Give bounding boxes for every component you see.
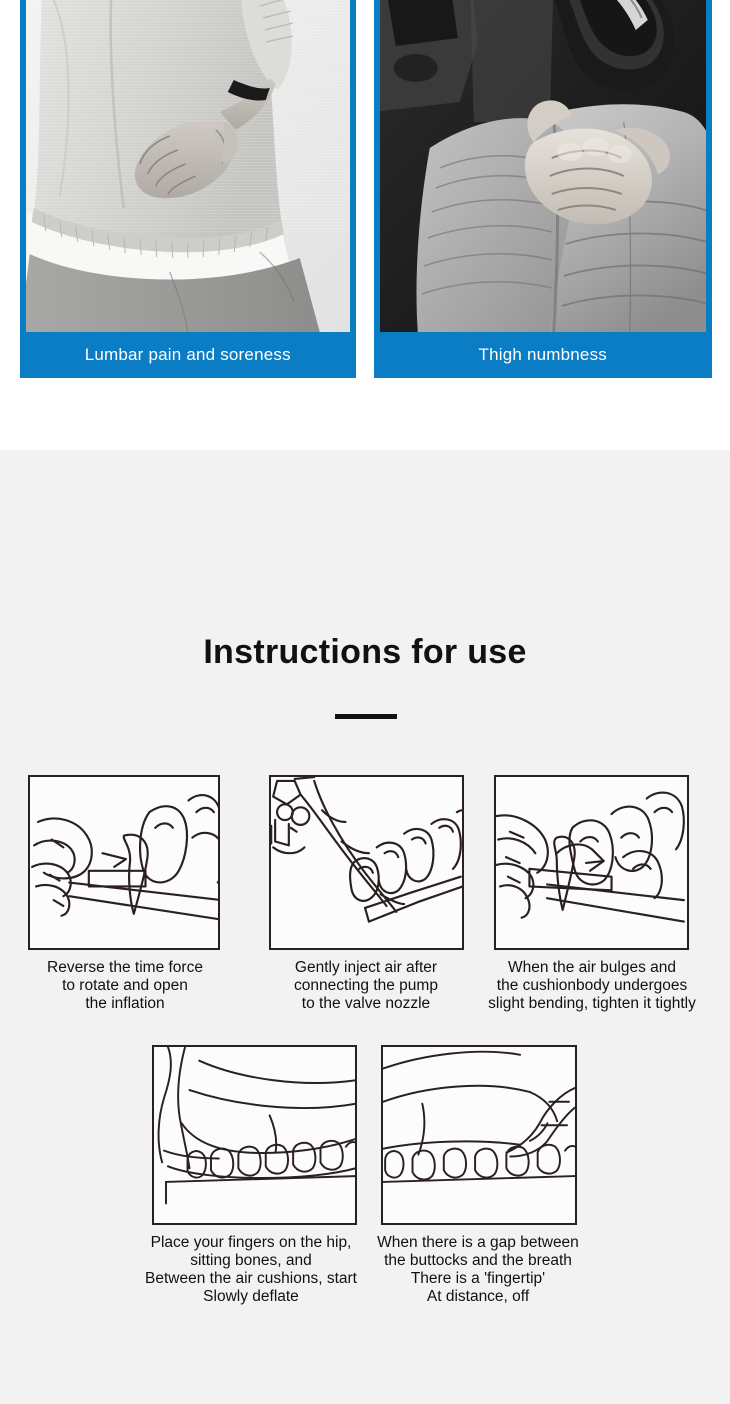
- instructions-section: Instructions for use: [0, 450, 730, 1404]
- thigh-numbness-photo: [380, 0, 707, 332]
- step-5-illustration: [381, 1045, 577, 1225]
- symptom-cards-row: Lumbar pain and soreness: [20, 0, 712, 378]
- symptom-card-label: Thigh numbness: [380, 332, 707, 378]
- lumbar-pain-photo: [26, 0, 350, 332]
- instruction-step-3: When the air bulges and the cushionbody …: [464, 775, 720, 1013]
- step-3-illustration: [494, 775, 689, 950]
- instruction-step-2: Gently inject air after connecting the p…: [252, 775, 480, 1013]
- instruction-step-1: Reverse the time force to rotate and ope…: [14, 775, 236, 1013]
- symptom-card-thigh-numbness[interactable]: Thigh numbness: [374, 0, 713, 378]
- step-3-caption: When the air bulges and the cushionbody …: [464, 959, 720, 1013]
- step-1-caption: Reverse the time force to rotate and ope…: [14, 959, 236, 1013]
- step-4-illustration: [152, 1045, 357, 1225]
- symptom-card-lumbar-pain[interactable]: Lumbar pain and soreness: [20, 0, 356, 378]
- step-2-caption: Gently inject air after connecting the p…: [252, 959, 480, 1013]
- step-2-illustration: [269, 775, 464, 950]
- step-5-caption: When there is a gap between the buttocks…: [362, 1234, 594, 1306]
- symptom-card-label: Lumbar pain and soreness: [26, 332, 350, 378]
- title-underline-rule: [335, 714, 397, 719]
- instruction-step-4: Place your fingers on the hip, sitting b…: [122, 1045, 380, 1306]
- step-1-illustration: [28, 775, 220, 950]
- page-title: Instructions for use: [0, 633, 730, 672]
- symptom-section: Lumbar pain and soreness: [0, 0, 730, 450]
- instruction-step-5: When there is a gap between the buttocks…: [362, 1045, 594, 1306]
- step-4-caption: Place your fingers on the hip, sitting b…: [122, 1234, 380, 1306]
